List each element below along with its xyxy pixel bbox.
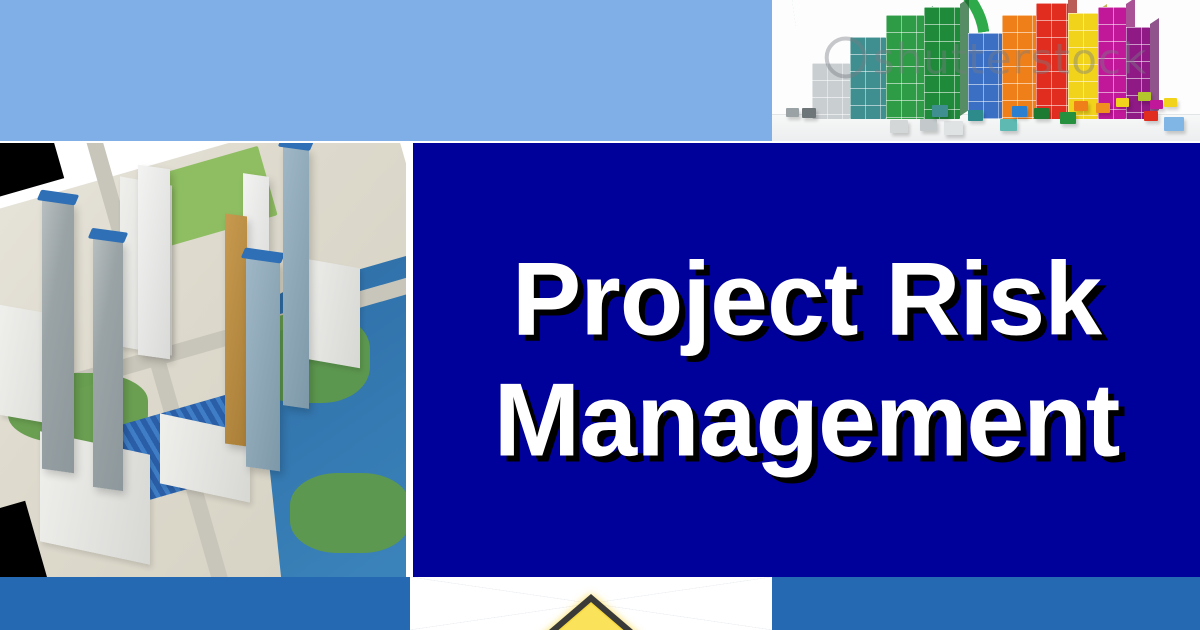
chart-loose-cube [1000, 119, 1017, 131]
chart-bar [850, 37, 886, 119]
chart-loose-cube [944, 121, 963, 135]
page-title: Project Risk Management [413, 239, 1200, 480]
city-tower [283, 145, 309, 409]
chart-bar [1002, 15, 1036, 119]
city-low-building [300, 258, 360, 369]
chart-loose-cube [1116, 98, 1129, 107]
chart-loose-cube [1096, 103, 1110, 113]
title-line-2: Management [413, 360, 1200, 481]
city-tower [246, 257, 280, 472]
chart-photo: shutterstock [772, 0, 1200, 141]
chart-loose-cube [932, 105, 948, 117]
chart-bar [886, 15, 924, 119]
city-photo [0, 143, 406, 577]
city-greenery [290, 473, 406, 553]
chart-loose-cube [968, 110, 983, 121]
chart-loose-cube [1060, 112, 1076, 124]
chart-bar [1126, 27, 1150, 119]
top-blue-band [0, 0, 772, 141]
title-line-1: Project Risk [413, 239, 1200, 360]
rooftop-solar-cap [278, 143, 314, 151]
chart-loose-cube [1034, 108, 1049, 119]
warning-triangle-highlight [507, 604, 675, 630]
poster-canvas: shutterstock [0, 0, 1200, 630]
chart-bar [924, 7, 960, 119]
city-tower [42, 199, 74, 473]
chart-loose-cube [1164, 98, 1177, 107]
chart-loose-cube [1150, 100, 1163, 109]
chart-bar [968, 33, 1002, 119]
warning-photo [410, 577, 772, 630]
chart-loose-cube [1074, 101, 1088, 111]
chart-loose-cube [1012, 106, 1027, 117]
chart-loose-cube [786, 108, 799, 117]
chart-loose-cube [890, 120, 908, 133]
chart-loose-cube [1144, 111, 1158, 121]
chart-loose-cube [920, 119, 937, 131]
title-panel: Project Risk Management [413, 143, 1200, 577]
city-tower [138, 165, 170, 359]
chart-bar [1036, 3, 1068, 119]
chart-loose-cube [1164, 117, 1184, 131]
chart-bar [812, 63, 850, 119]
chart-loose-cube [1138, 92, 1151, 101]
chart-loose-cube [802, 108, 816, 118]
city-tower [93, 237, 123, 491]
